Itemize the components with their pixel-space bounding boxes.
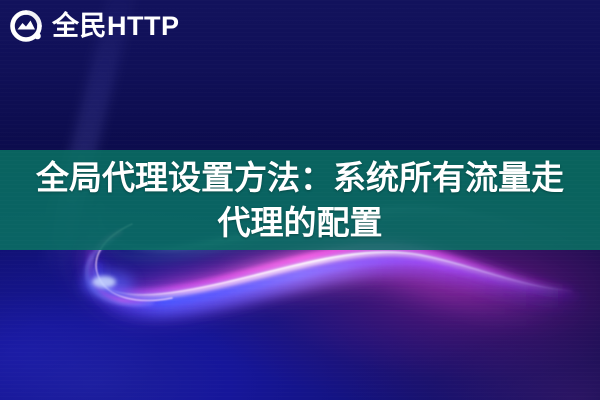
promo-banner: 全局代理设置方法：系统所有流量走 代理的配置 全民HTTP bbox=[0, 0, 600, 400]
background-scanline-overlay bbox=[0, 0, 600, 400]
site-logo[interactable]: 全民HTTP bbox=[6, 6, 180, 46]
logo-text: 全民HTTP bbox=[52, 6, 180, 46]
quanmin-http-logo-icon bbox=[6, 6, 46, 46]
